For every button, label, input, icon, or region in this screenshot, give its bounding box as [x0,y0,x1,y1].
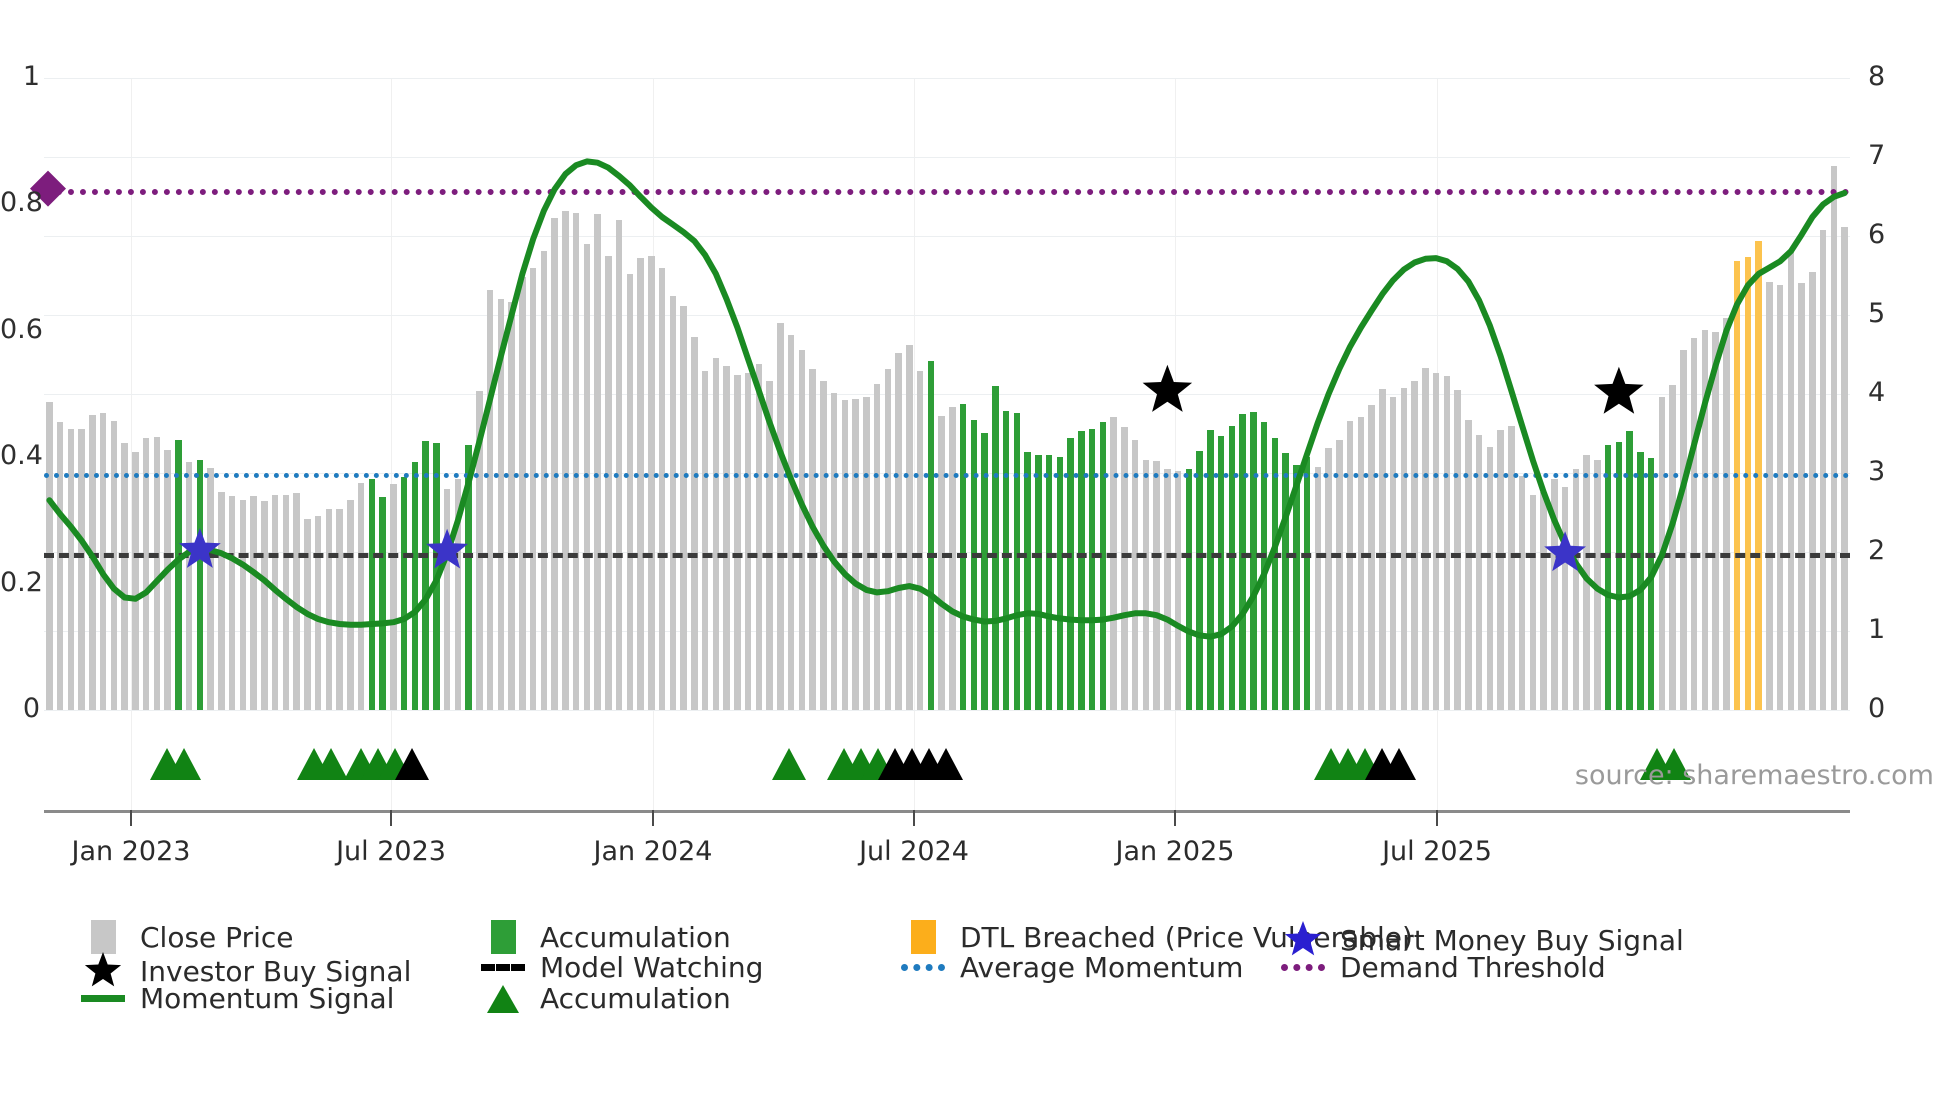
momentum-signal-line [44,78,1850,710]
y-tick-label-right: 6 [1868,219,1908,250]
square-icon [80,920,126,954]
legend-item[interactable]: Model Watching [480,951,763,984]
investor-buy-signal-star [1143,365,1193,412]
line-icon [80,995,126,1002]
chart-canvas: 00.20.40.60.81 012345678 Jan 2023Jul 202… [0,0,1960,1102]
x-tick-label: Jul 2024 [859,836,969,867]
x-tick [1436,810,1438,826]
x-tick-label: Jul 2025 [1382,836,1492,867]
x-tick-label: Jan 2024 [594,836,713,867]
y-tick-label-right: 8 [1868,61,1908,92]
accumulation-confirmed-triangle [929,748,963,780]
legend-row: Momentum SignalAccumulation [80,982,1940,1013]
x-tick-label: Jul 2023 [336,836,446,867]
dotted-line-icon [900,964,946,971]
legend-label: Demand Threshold [1340,951,1606,984]
legend-label: Momentum Signal [140,982,394,1015]
triangle-icon [480,985,526,1013]
legend-label: Average Momentum [960,951,1243,984]
square-icon [900,920,946,954]
source-label: source: sharemaestro.com [1575,760,1934,791]
legend-item[interactable]: Accumulation [480,982,731,1015]
legend-row: Investor Buy SignalModel WatchingAverage… [80,951,1940,982]
y-tick-label-left: 0.8 [0,187,40,218]
x-tick [390,810,392,826]
legend-item[interactable]: Demand Threshold [1280,951,1606,984]
legend-item[interactable]: Close Price [80,920,293,954]
dotted-line-icon [1280,964,1326,971]
y-tick-label-right: 3 [1868,456,1908,487]
y-tick-label-right: 7 [1868,140,1908,171]
square-icon [480,920,526,954]
dashed-line-icon [480,964,526,971]
legend-item[interactable]: Average Momentum [900,951,1243,984]
accumulation-confirmed-triangle [395,748,429,780]
chart-legend: Close PriceAccumulationDTL Breached (Pri… [80,920,1940,1013]
x-tick [1174,810,1176,826]
smart-money-buy-signal-star [179,528,221,568]
y-tick-label-right: 0 [1868,693,1908,724]
legend-label: Model Watching [540,951,763,984]
x-tick-label: Jan 2025 [1116,836,1235,867]
y-tick-label-right: 5 [1868,298,1908,329]
y-tick-label-right: 4 [1868,377,1908,408]
accumulation-triangle [772,748,806,780]
y-tick-label-right: 2 [1868,535,1908,566]
x-tick [652,810,654,826]
x-axis-line [44,810,1850,813]
smart-money-buy-signal-star [426,529,468,569]
legend-row: Close PriceAccumulationDTL Breached (Pri… [80,920,1940,951]
y-tick-label-left: 1 [0,61,40,92]
plot-area [44,78,1850,710]
accumulation-confirmed-triangle [1382,748,1416,780]
y-tick-label-left: 0.2 [0,567,40,598]
legend-item[interactable]: Accumulation [480,920,731,954]
y-tick-label-left: 0.4 [0,440,40,471]
gridline [44,710,1850,711]
legend-label: Close Price [140,921,293,954]
legend-item[interactable]: Momentum Signal [80,982,394,1015]
legend-label: Accumulation [540,921,731,954]
y-tick-label-right: 1 [1868,614,1908,645]
y-tick-label-left: 0 [0,693,40,724]
investor-buy-signal-star [1594,367,1644,414]
x-tick-label: Jan 2023 [72,836,191,867]
x-tick [130,810,132,826]
legend-label: Accumulation [540,982,731,1015]
accumulation-triangle [167,748,201,780]
y-tick-label-left: 0.6 [0,314,40,345]
x-tick [913,810,915,826]
accumulation-triangle [314,748,348,780]
